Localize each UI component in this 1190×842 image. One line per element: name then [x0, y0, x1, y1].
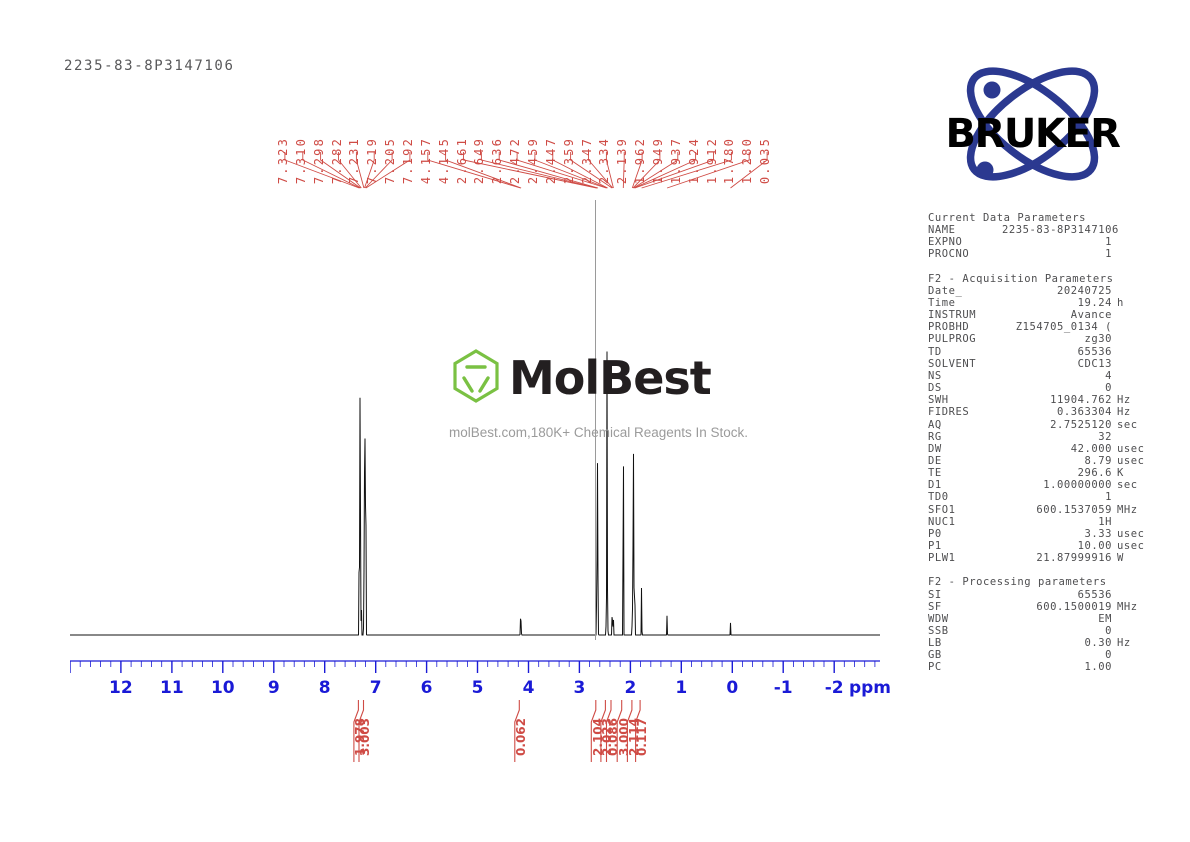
param-unit	[1112, 516, 1153, 528]
param-value: EM	[1002, 613, 1112, 625]
param-spacer	[928, 261, 1153, 273]
param-unit	[1112, 346, 1153, 358]
processing-rows: SI65536SF600.1500019MHzWDWEMSSB0LB0.30Hz…	[928, 589, 1153, 674]
axis-tick-label: 8	[319, 678, 331, 698]
param-row: AQ2.7525120sec	[928, 419, 1153, 431]
param-key: PLW1	[928, 552, 1002, 564]
param-unit: usec	[1112, 540, 1153, 552]
param-key: TD0	[928, 491, 1002, 503]
param-unit	[1119, 224, 1160, 236]
axis-tick-label: 5	[472, 678, 484, 698]
param-unit	[1112, 661, 1153, 673]
peak-leader-line	[623, 152, 624, 188]
param-key: PROCNO	[928, 248, 1002, 260]
param-value: 0	[1002, 649, 1112, 661]
page-title: 2235-83-8P3147106	[64, 58, 235, 74]
param-unit	[1112, 625, 1153, 637]
param-row: P03.33usec	[928, 528, 1153, 540]
param-row: WDWEM	[928, 613, 1153, 625]
param-value: 4	[1002, 370, 1112, 382]
current-data-rows: NAME2235-83-8P3147106EXPNO1PROCNO1	[928, 224, 1153, 260]
peak-leader-line	[356, 152, 364, 188]
param-value: 0.30	[1002, 637, 1112, 649]
param-unit	[1112, 613, 1153, 625]
param-value: CDC13	[1002, 358, 1112, 370]
axis-tick-label: 9	[268, 678, 280, 698]
param-value: 42.000	[1002, 443, 1112, 455]
param-unit	[1112, 321, 1153, 333]
param-key: PULPROG	[928, 333, 1002, 345]
param-row: GB0	[928, 649, 1153, 661]
param-row: PULPROGzg30	[928, 333, 1153, 345]
param-unit	[1112, 236, 1153, 248]
param-key: Time	[928, 297, 1002, 309]
axis-tick-label: 4	[523, 678, 535, 698]
param-value: 11904.762	[1002, 394, 1112, 406]
param-value: 1	[1002, 491, 1112, 503]
param-row: NUC11H	[928, 516, 1153, 528]
integral-value: 0.062	[515, 718, 527, 756]
param-unit	[1112, 333, 1153, 345]
processing-heading: F2 - Processing parameters	[928, 576, 1153, 588]
axis-tick-label: 10	[211, 678, 235, 698]
param-key: FIDRES	[928, 406, 1002, 418]
param-unit	[1112, 285, 1153, 297]
param-key: EXPNO	[928, 236, 1002, 248]
param-key: NUC1	[928, 516, 1002, 528]
param-unit: K	[1112, 467, 1153, 479]
param-row: DE8.79usec	[928, 455, 1153, 467]
param-key: SF	[928, 601, 1002, 613]
axis-tick-label: 11	[160, 678, 184, 698]
param-unit: sec	[1112, 419, 1153, 431]
param-unit: usec	[1112, 443, 1153, 455]
peak-leader-lines	[276, 152, 776, 190]
param-row: PC1.00	[928, 661, 1153, 673]
param-unit	[1112, 248, 1153, 260]
axis-tick-label: 2	[624, 678, 636, 698]
param-unit: Hz	[1112, 394, 1153, 406]
param-unit	[1112, 491, 1153, 503]
param-key: P0	[928, 528, 1002, 540]
param-unit	[1112, 382, 1153, 394]
param-key: SI	[928, 589, 1002, 601]
param-row: PROBHDZ154705_0134 (	[928, 321, 1153, 333]
integral-curves: 1.9783.0030.0622.1042.0230.0863.0002.114…	[70, 700, 880, 775]
param-unit	[1112, 589, 1153, 601]
param-value: 2.7525120	[1002, 419, 1112, 431]
param-key: SSB	[928, 625, 1002, 637]
param-unit	[1112, 309, 1153, 321]
param-key: DE	[928, 455, 1002, 467]
param-value: 0.363304	[1002, 406, 1112, 418]
param-row: LB0.30Hz	[928, 637, 1153, 649]
axis-ruler	[70, 658, 880, 678]
param-unit: usec	[1112, 455, 1153, 467]
peak-leader-line	[365, 152, 375, 188]
param-value: 1.00	[1002, 661, 1112, 673]
param-value: 1	[1002, 248, 1112, 260]
hexagon-icon	[447, 347, 505, 409]
axis-tick-label: 6	[421, 678, 433, 698]
acquisition-parameter-panel: Current Data Parameters NAME2235-83-8P31…	[928, 212, 1153, 674]
param-row: NS4	[928, 370, 1153, 382]
param-row: SOLVENTCDC13	[928, 358, 1153, 370]
param-key: INSTRUM	[928, 309, 1002, 321]
param-value: 600.1500019	[1002, 601, 1112, 613]
param-value: 1	[1002, 236, 1112, 248]
param-row: TE296.6K	[928, 467, 1153, 479]
param-spacer	[928, 564, 1153, 576]
peak-leader-line	[365, 152, 392, 188]
param-row: PLW121.87999916W	[928, 552, 1153, 564]
axis-unit-label: ppm	[849, 678, 891, 698]
param-key: D1	[928, 479, 1002, 491]
param-key: NS	[928, 370, 1002, 382]
param-value: 8.79	[1002, 455, 1112, 467]
param-unit: Hz	[1112, 406, 1153, 418]
peak-leader-line	[632, 152, 642, 188]
param-value: 600.1537059	[1002, 504, 1112, 516]
param-value: 0	[1002, 625, 1112, 637]
axis-tick-label: 0	[726, 678, 738, 698]
param-unit: usec	[1112, 528, 1153, 540]
param-key: TD	[928, 346, 1002, 358]
param-unit: sec	[1112, 479, 1153, 491]
param-value: 19.24	[1002, 297, 1112, 309]
acquisition-heading: F2 - Acquisition Parameters	[928, 273, 1153, 285]
axis-tick-label: 1	[675, 678, 687, 698]
param-value: 1H	[1002, 516, 1112, 528]
param-key: NAME	[928, 224, 1002, 236]
param-unit: MHz	[1112, 504, 1153, 516]
param-value: 2235-83-8P3147106	[1002, 224, 1119, 236]
param-value: 65536	[1002, 589, 1112, 601]
param-unit	[1112, 370, 1153, 382]
peak-leader-line	[634, 152, 678, 188]
param-key: Date_	[928, 285, 1002, 297]
param-row: INSTRUMAvance	[928, 309, 1153, 321]
param-key: P1	[928, 540, 1002, 552]
param-value: 10.00	[1002, 540, 1112, 552]
integral-value: 0.117	[636, 718, 648, 756]
param-unit	[1112, 649, 1153, 661]
param-value: 0	[1002, 382, 1112, 394]
param-value: 32	[1002, 431, 1112, 443]
param-row: DS0	[928, 382, 1153, 394]
current-data-heading: Current Data Parameters	[928, 212, 1153, 224]
param-value: 296.6	[1002, 467, 1112, 479]
axis-tick-label: 3	[573, 678, 585, 698]
integral-brackets	[70, 700, 880, 775]
param-row: EXPNO1	[928, 236, 1153, 248]
ppm-axis: ppm 1211109876543210-1-2	[70, 658, 880, 706]
param-unit	[1112, 431, 1153, 443]
bruker-wordmark: BRUKER	[925, 114, 1140, 154]
param-key: RG	[928, 431, 1002, 443]
param-row: SSB0	[928, 625, 1153, 637]
integral-value: 3.003	[359, 718, 371, 756]
peak-leader-line	[321, 152, 361, 188]
param-key: PROBHD	[928, 321, 1002, 333]
molbest-watermark: MolBest molBest.com,180K+ Chemical Reage…	[447, 347, 777, 440]
param-value: 65536	[1002, 346, 1112, 358]
param-key: GB	[928, 649, 1002, 661]
param-row: SFO1600.1537059MHz	[928, 504, 1153, 516]
param-unit: MHz	[1112, 601, 1153, 613]
param-row: SWH11904.762Hz	[928, 394, 1153, 406]
param-key: WDW	[928, 613, 1002, 625]
bruker-logo: BRUKER	[925, 62, 1140, 197]
param-row: Date_20240725	[928, 285, 1153, 297]
param-key: PC	[928, 661, 1002, 673]
param-row: FIDRES0.363304Hz	[928, 406, 1153, 418]
param-row: P110.00usec	[928, 540, 1153, 552]
param-key: SWH	[928, 394, 1002, 406]
param-key: TE	[928, 467, 1002, 479]
axis-tick-label: -2	[825, 678, 844, 698]
param-value: 3.33	[1002, 528, 1112, 540]
param-row: NAME2235-83-8P3147106	[928, 224, 1153, 236]
axis-tick-label: 12	[109, 678, 133, 698]
param-value: Z154705_0134 (	[1002, 321, 1112, 333]
param-row: Time19.24h	[928, 297, 1153, 309]
param-key: AQ	[928, 419, 1002, 431]
param-unit	[1112, 358, 1153, 370]
param-unit: W	[1112, 552, 1153, 564]
param-row: SI65536	[928, 589, 1153, 601]
param-row: PROCNO1	[928, 248, 1153, 260]
param-value: 1.00000000	[1002, 479, 1112, 491]
param-row: DW42.000usec	[928, 443, 1153, 455]
param-value: zg30	[1002, 333, 1112, 345]
param-key: SOLVENT	[928, 358, 1002, 370]
axis-tick-label: 7	[370, 678, 382, 698]
molbest-wordmark: MolBest	[509, 355, 711, 401]
param-key: DS	[928, 382, 1002, 394]
param-value: 20240725	[1002, 285, 1112, 297]
param-value: Avance	[1002, 309, 1112, 321]
param-row: RG32	[928, 431, 1153, 443]
param-row: SF600.1500019MHz	[928, 601, 1153, 613]
param-row: D11.00000000sec	[928, 479, 1153, 491]
molbest-tagline: molBest.com,180K+ Chemical Reagents In S…	[449, 425, 777, 440]
param-unit: Hz	[1112, 637, 1153, 649]
param-row: TD65536	[928, 346, 1153, 358]
param-key: DW	[928, 443, 1002, 455]
param-unit: h	[1112, 297, 1153, 309]
param-key: SFO1	[928, 504, 1002, 516]
acquisition-rows: Date_20240725Time19.24hINSTRUMAvancePROB…	[928, 285, 1153, 565]
peak-leader-line	[366, 152, 410, 188]
axis-tick-label: -1	[774, 678, 793, 698]
param-value: 21.87999916	[1002, 552, 1112, 564]
param-row: TD01	[928, 491, 1153, 503]
param-key: LB	[928, 637, 1002, 649]
